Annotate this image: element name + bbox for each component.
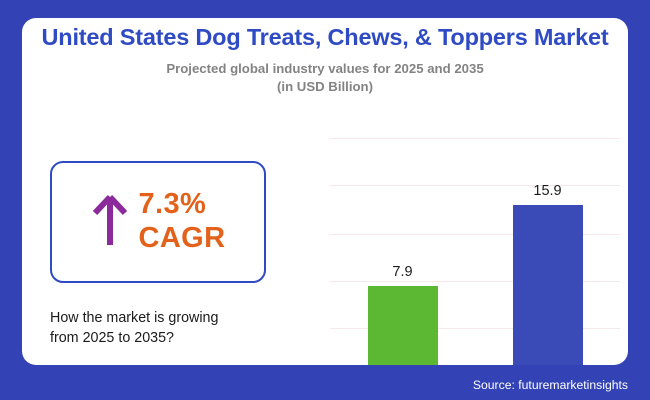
content-card: United States Dog Treats, Chews, & Toppe… [22, 18, 628, 365]
cagr-value: 7.3% [139, 188, 226, 222]
chart-bar-value-label: 15.9 [533, 183, 561, 199]
chart-bar[interactable] [368, 286, 438, 365]
chart-bar[interactable] [513, 205, 583, 365]
cagr-content: 7.3% CAGR [91, 188, 226, 255]
page-title: United States Dog Treats, Chews, & Toppe… [22, 24, 628, 51]
source-attribution: Source: futuremarketinsights [473, 378, 628, 392]
page-subtitle: Projected global industry values for 202… [22, 60, 628, 96]
cagr-text-group: 7.3% CAGR [139, 188, 226, 255]
chart-bar-value-label: 7.9 [392, 264, 412, 280]
growth-caption-line-2: from 2025 to 2035? [50, 328, 300, 348]
cagr-label: CAGR [139, 222, 226, 256]
bar-chart: 7.9202515.92035 [330, 138, 620, 365]
header: United States Dog Treats, Chews, & Toppe… [22, 24, 628, 96]
subtitle-line-2: (in USD Billion) [22, 78, 628, 96]
growth-caption: How the market is growing from 2025 to 2… [50, 308, 300, 349]
chart-gridline [330, 138, 620, 139]
chart-bar-group: 7.92025 [368, 175, 438, 365]
growth-caption-line-1: How the market is growing [50, 308, 300, 328]
cagr-callout-box: 7.3% CAGR [50, 161, 266, 283]
infographic-root: United States Dog Treats, Chews, & Toppe… [0, 0, 650, 400]
arrow-up-icon [93, 194, 127, 253]
chart-bar-group: 15.92035 [513, 175, 583, 365]
subtitle-line-1: Projected global industry values for 202… [22, 60, 628, 78]
